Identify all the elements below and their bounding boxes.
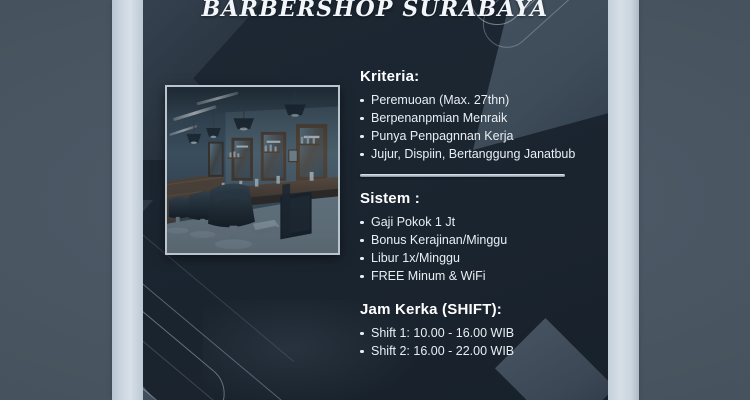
page-edge-bar-right: [608, 0, 639, 400]
list-item: Shift 2: 16.00 - 22.00 WIB: [360, 342, 600, 360]
section-heading-jam-kerja: Jam Kerka (SHIFT):: [360, 301, 600, 318]
poster-content: Kriteria: Peremuoan (Max. 27thn) Berpena…: [360, 68, 600, 360]
kriteria-list: Peremuoan (Max. 27thn) Berpenanpmian Men…: [360, 91, 600, 163]
list-item: Libur 1x/Minggu: [360, 249, 600, 267]
list-item: FREE Minum & WiFi: [360, 267, 600, 285]
sistem-list: Gaji Pokok 1 Jt Bonus Kerajinan/Minggu L…: [360, 213, 600, 285]
barbershop-interior-photo: [167, 87, 338, 253]
list-item: Peremuoan (Max. 27thn): [360, 91, 600, 109]
section-kriteria: Kriteria: Peremuoan (Max. 27thn) Berpena…: [360, 68, 600, 163]
section-jam-kerja: Jam Kerka (SHIFT): Shift 1: 10.00 - 16.0…: [360, 301, 600, 360]
list-item: Gaji Pokok 1 Jt: [360, 213, 600, 231]
decor-hairline-1: [143, 250, 302, 400]
page-edge-bar-left: [112, 0, 143, 400]
decor-wedge-bottom-left: [143, 238, 313, 400]
section-divider: [360, 174, 565, 177]
poster-screenshot: BARBERSHOP SURABAYA: [0, 0, 750, 400]
decor-hairline-2: [143, 292, 277, 400]
list-item: Punya Penpagnnan Kerja: [360, 127, 600, 145]
spacer: [360, 285, 600, 301]
section-heading-kriteria: Kriteria:: [360, 68, 600, 85]
list-item: Shift 1: 10.00 - 16.00 WIB: [360, 324, 600, 342]
list-item: Jujur, Dispiin, Bertanggung Janatbub: [360, 145, 600, 163]
list-item: Bonus Kerajinan/Minggu: [360, 231, 600, 249]
section-sistem: Sistem : Gaji Pokok 1 Jt Bonus Kerajinan…: [360, 190, 600, 285]
section-heading-sistem: Sistem :: [360, 190, 600, 207]
jam-kerja-list: Shift 1: 10.00 - 16.00 WIB Shift 2: 16.0…: [360, 324, 600, 360]
barbershop-photo-frame: [165, 85, 340, 255]
list-item: Berpenanpmian Menraik: [360, 109, 600, 127]
poster-title: BARBERSHOP SURABAYA: [0, 0, 750, 22]
